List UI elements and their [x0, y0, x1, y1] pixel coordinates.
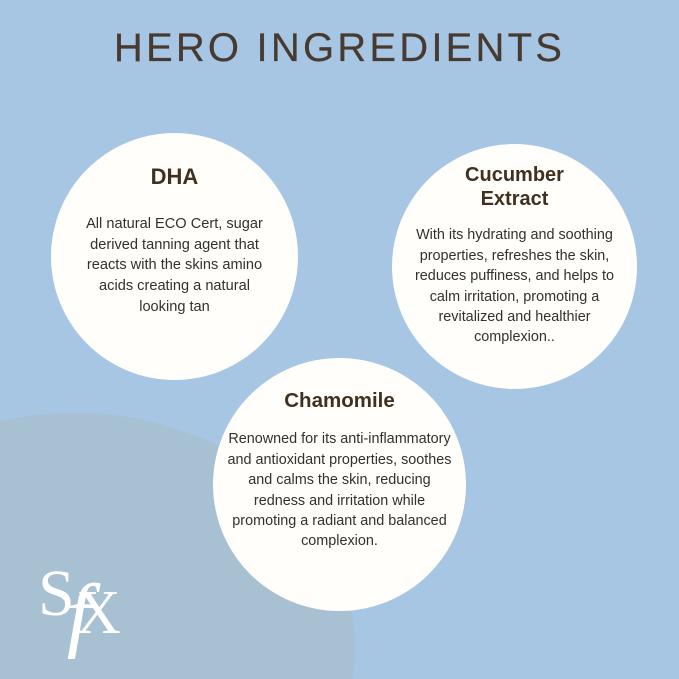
ingredient-name-dha: DHA: [151, 164, 199, 190]
page-title: HERO INGREDIENTS: [0, 26, 679, 71]
ingredient-circle-dha: DHA All natural ECO Cert, sugar derived …: [51, 133, 298, 380]
ingredient-circle-chamomile: Chamomile Renowned for its anti-inflamma…: [213, 358, 466, 611]
ingredient-name-cucumber-extract: Cucumber Extract: [465, 164, 564, 211]
brand-logo-sfx: S f X: [36, 559, 146, 659]
ingredient-description-dha: All natural ECO Cert, sugar derived tann…: [75, 214, 275, 318]
logo-letter-x: X: [76, 579, 121, 647]
hero-ingredients-graphic: HERO INGREDIENTS DHA All natural ECO Cer…: [0, 0, 679, 679]
ingredient-description-chamomile: Renowned for its anti-inflammatory and a…: [226, 429, 454, 552]
ingredient-description-cucumber-extract: With its hydrating and soothing properti…: [407, 225, 623, 348]
ingredient-name-chamomile: Chamomile: [284, 389, 395, 413]
ingredient-circle-cucumber-extract: Cucumber Extract With its hydrating and …: [392, 144, 637, 389]
